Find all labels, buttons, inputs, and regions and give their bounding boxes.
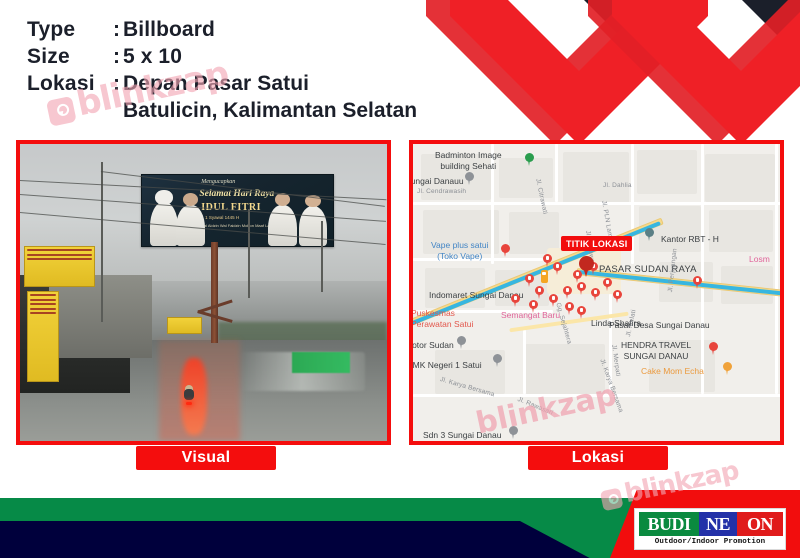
map-pin-linda-shafira[interactable] (577, 306, 586, 319)
map-poi-pin[interactable] (535, 286, 544, 299)
logo-part-budi: BUDI (639, 512, 699, 536)
map-road (523, 330, 526, 394)
titik-lokasi-label: TITIK LOKASI (561, 236, 632, 251)
map-label-smk: SMK Negeri 1 Satui (409, 360, 482, 371)
spec-label-type: Type (27, 16, 113, 43)
map-label-puskesmas: Puskesmas Perawatan Satui (411, 308, 473, 329)
map-label-losmen: Losm (749, 254, 770, 265)
billboard-figure-2-head (183, 193, 198, 206)
map-pin-badminton[interactable] (525, 153, 534, 166)
map-poi-pin[interactable] (529, 300, 538, 313)
map-block (563, 152, 629, 204)
map-poi-pin[interactable] (543, 254, 552, 267)
visual-photo-panel[interactable]: Mengucapkan Selamat Hari Raya IDUL FITRI… (16, 140, 391, 445)
spec-row-type: Type : Billboard (27, 16, 547, 43)
map-label-badminton: Badminton Image building Sehati (435, 150, 502, 171)
caption-lokasi: Lokasi (528, 446, 668, 470)
spec-row-lokasi: Lokasi : Depan Pasar Satui (27, 70, 547, 97)
spec-value-type: Billboard (123, 16, 215, 43)
map-label-indomaret: Indomaret Sungai Danau (429, 290, 524, 301)
spec-value-size: 5 x 10 (123, 43, 182, 70)
map-poi-pin[interactable] (565, 302, 574, 315)
spec-value-lokasi: Depan Pasar Satui (123, 70, 309, 97)
photo-yellow-sign-3 (167, 317, 202, 334)
map-label-hendra-travel: HENDRA TRAVEL SUNGAI DANAU (621, 340, 691, 361)
photo-utility-pole-2 (248, 209, 250, 298)
map-pin-cake-mom-echa[interactable] (723, 362, 732, 375)
billboard-support-pole (211, 242, 218, 343)
photo-motorcycle-taillight (186, 402, 192, 405)
poster-root: Type : Billboard Size : 5 x 10 Lokasi : … (0, 0, 800, 558)
map-poi-pin[interactable] (613, 290, 622, 303)
photo-motorcycle-body (184, 389, 194, 400)
spec-header: Type : Billboard Size : 5 x 10 Lokasi : … (27, 16, 547, 124)
logo-wordmark: BUDI NE ON (639, 512, 781, 536)
street-photo: Mengucapkan Selamat Hari Raya IDUL FITRI… (20, 144, 387, 441)
map-label-pasar-desa: Pasar Desa Sungai Danau (609, 320, 710, 331)
photo-utility-pole-3 (321, 221, 323, 292)
map-road (555, 144, 558, 202)
map-poi-pin[interactable] (577, 282, 586, 295)
map-pin-semangat-baru[interactable] (511, 294, 520, 307)
map-label-cake-mom-echa: Cake Mom Echa (641, 366, 704, 377)
map-label-kantor-rbt: Kantor RBT - H (661, 234, 719, 245)
map-poi-pin[interactable] (603, 278, 612, 291)
map-label-sungai-danauu: Sungai Danauu (409, 176, 464, 187)
spec-colon-size: : (113, 43, 123, 70)
map-pin-smk[interactable] (493, 354, 502, 367)
spec-label-size: Size (27, 43, 113, 70)
photo-green-storefront (292, 352, 351, 373)
map-road (775, 144, 778, 394)
spec-label-lokasi: Lokasi (27, 70, 113, 97)
map-block (705, 154, 775, 202)
spec-colon-lokasi: : (113, 70, 123, 97)
billboard-line4: 1 Syawal 1445 H (205, 215, 239, 220)
map-panel[interactable]: Badminton Image building Sehati Sungai D… (409, 140, 784, 445)
map-label-vape: Vape plus satui (Toko Vape) (431, 240, 489, 261)
logo-part-on: ON (737, 512, 783, 536)
map-poi-pin[interactable] (591, 288, 600, 301)
map-pin-sungai-danauu[interactable] (465, 172, 474, 185)
billboard-figure-3 (268, 205, 297, 246)
billboard-figure-3-head (275, 193, 290, 206)
map-pin-vape[interactable] (501, 244, 510, 257)
map-block (709, 210, 773, 252)
map-poi-pin[interactable] (553, 262, 562, 275)
map-poi-pin[interactable] (563, 286, 572, 299)
billboard-figure-1-head (155, 190, 172, 204)
map-poi-pin[interactable] (525, 274, 534, 287)
map-pin-hendra-travel[interactable] (709, 342, 718, 355)
map-pin-motor-sudan[interactable] (457, 336, 466, 349)
budi-neon-logo: BUDI NE ON Outdoor/Indoor Promotion (634, 508, 786, 550)
map-poi-pin[interactable] (549, 294, 558, 307)
map-street-label: Jl. Dahlia (603, 182, 632, 190)
spec-value-lokasi-line2: Batulicin, Kalimantan Selatan (123, 97, 547, 124)
photo-motorcycle (181, 385, 197, 405)
logo-part-ne: NE (699, 512, 737, 536)
map-canvas[interactable]: Badminton Image building Sehati Sungai D… (413, 144, 780, 441)
photo-utility-pole-1 (101, 162, 103, 322)
photo-yellow-sign-1 (24, 246, 96, 287)
map-poi-pin[interactable] (693, 276, 702, 289)
map-block (637, 150, 697, 194)
map-street-label: Jl. Cendrawasih (417, 188, 466, 196)
map-road (701, 144, 704, 394)
map-label-pasar-sudan-raya: PASAR SUDAN RAYA (599, 264, 697, 276)
logo-tagline: Outdoor/Indoor Promotion (639, 538, 781, 546)
map-label-motor-sudan: Motor Sudan (409, 340, 454, 351)
titik-lokasi-pin[interactable] (579, 256, 594, 277)
caption-visual: Visual (136, 446, 276, 470)
map-pin-kantor-rbt[interactable] (645, 228, 654, 241)
map-bus-stop-icon[interactable] (541, 270, 548, 283)
spec-row-size: Size : 5 x 10 (27, 43, 547, 70)
spec-colon-type: : (113, 16, 123, 43)
photo-yellow-sign-2 (27, 291, 58, 382)
